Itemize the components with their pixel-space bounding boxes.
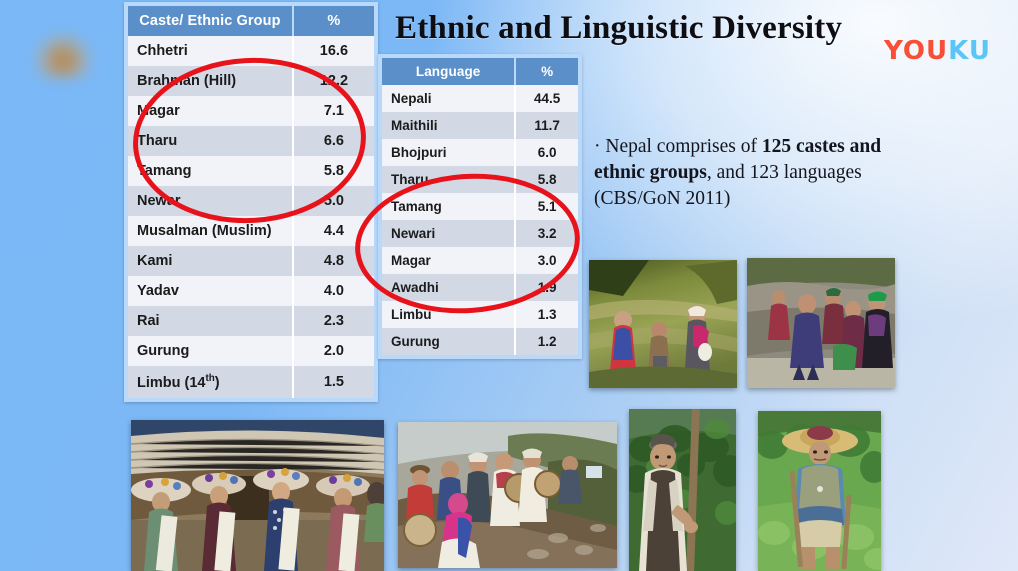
row-percent-value: 4.0 [293,276,374,306]
row-label: Tamang [128,156,293,186]
table-row: Bhojpuri6.0 [382,139,578,166]
row-label: Newar [128,186,293,216]
youku-logo-part1: YOU [884,36,948,66]
column-header-caste: Caste/ Ethnic Group [128,6,293,36]
table-row: Maithili11.7 [382,112,578,139]
row-percent-value: 5.1 [515,193,578,220]
table-row: Tamang5.8 [128,156,374,186]
column-header-percent: % [293,6,374,36]
row-percent-value: 1.2 [515,328,578,355]
table-row: Limbu1.3 [382,301,578,328]
photo-tamang-family-image [747,258,895,388]
row-percent-value: 16.6 [293,36,374,66]
row-percent-value: 5.8 [293,156,374,186]
row-percent-value: 6.0 [515,139,578,166]
photo-man-hat-image [758,411,881,571]
table-row: Magar7.1 [128,96,374,126]
row-label: Tharu [128,126,293,156]
row-percent-value: 6.6 [293,126,374,156]
photo-drum-festival-image [398,422,617,568]
table-header-row: Language % [382,58,578,85]
photo-tharu-dancers-image [131,420,384,571]
table-header-row: Caste/ Ethnic Group % [128,6,374,36]
table-row: Gurung2.0 [128,336,374,366]
row-label: Newari [382,220,515,247]
row-label: Nepali [382,85,515,112]
row-label: Chhetri [128,36,293,66]
table-row: Gurung1.2 [382,328,578,355]
row-label: Magar [128,96,293,126]
table-row: Nepali44.5 [382,85,578,112]
table-row: Magar3.0 [382,247,578,274]
table-row: Kami4.8 [128,246,374,276]
body-paragraph: · Nepal comprises of 125 castes and ethn… [594,134,894,212]
table-row: Yadav4.0 [128,276,374,306]
row-percent-value: 2.3 [293,306,374,336]
page-title: Ethnic and Linguistic Diversity [395,10,842,47]
row-label: Kami [128,246,293,276]
table-row: Awadhi1.9 [382,274,578,301]
table-row: Chhetri16.6 [128,36,374,66]
row-percent-value: 2.0 [293,336,374,366]
photo-man-stick-image [629,409,736,571]
row-label: Tharu [382,166,515,193]
photo-man-hat [758,411,881,571]
row-label: Bhojpuri [382,139,515,166]
row-label: Limbu (14th) [128,366,293,398]
row-label: Musalman (Muslim) [128,216,293,246]
photo-tharu-dancers [131,420,384,571]
row-label: Gurung [382,328,515,355]
row-percent-value: 12.2 [293,66,374,96]
row-label: Tamang [382,193,515,220]
table-row: Limbu (14th)1.5 [128,366,374,398]
table-row: Musalman (Muslim)4.4 [128,216,374,246]
table-row: Brahman (Hill)12.2 [128,66,374,96]
row-percent-value: 11.7 [515,112,578,139]
row-percent-value: 1.3 [515,301,578,328]
column-header-percent: % [515,58,578,85]
row-label: Rai [128,306,293,336]
youku-logo-part2: KU [948,36,991,66]
table-row: Newar5.0 [128,186,374,216]
row-label: Gurung [128,336,293,366]
row-label: Limbu [382,301,515,328]
table-row: Tharu6.6 [128,126,374,156]
row-percent-value: 7.1 [293,96,374,126]
row-percent-value: 4.8 [293,246,374,276]
row-label: Maithili [382,112,515,139]
row-label: Yadav [128,276,293,306]
photo-man-stick [629,409,736,571]
row-percent-value: 3.2 [515,220,578,247]
table-row: Newari3.2 [382,220,578,247]
row-percent-value: 5.8 [515,166,578,193]
row-percent-value: 5.0 [293,186,374,216]
table-row: Tharu5.8 [382,166,578,193]
presentation-slide: Ethnic and Linguistic Diversity YOUKU Ca… [0,0,1018,571]
row-percent-value: 44.5 [515,85,578,112]
body-segment-1: Nepal comprises of [601,136,762,157]
background-smudge-artifact [34,32,92,78]
youku-watermark-logo: YOUKU [884,36,991,66]
column-header-language: Language [382,58,515,85]
caste-ethnic-group-table: Caste/ Ethnic Group % Chhetri16.6Brahman… [124,2,378,402]
row-percent-value: 1.9 [515,274,578,301]
row-label: Brahman (Hill) [128,66,293,96]
table-row: Tamang5.1 [382,193,578,220]
language-table: Language % Nepali44.5Maithili11.7Bhojpur… [378,54,582,359]
row-percent-value: 1.5 [293,366,374,398]
photo-tamang-women [589,260,737,388]
table-row: Rai2.3 [128,306,374,336]
photo-tamang-women-image [589,260,737,388]
row-percent-value: 4.4 [293,216,374,246]
row-label-superscript: th [205,373,214,384]
photo-drum-festival [398,422,617,568]
row-label: Magar [382,247,515,274]
photo-tamang-family [747,258,895,388]
row-percent-value: 3.0 [515,247,578,274]
row-label: Awadhi [382,274,515,301]
